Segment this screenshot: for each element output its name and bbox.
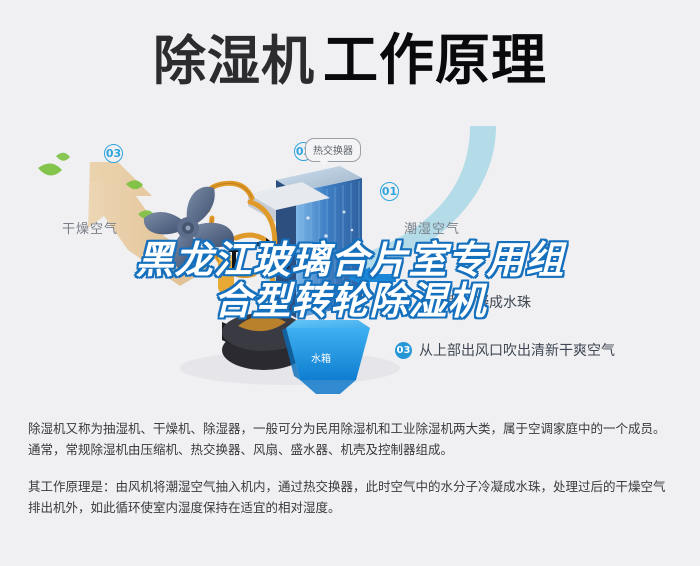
body-copy: 除湿机又称为抽湿机、干燥机、除湿器，一般可分为民用除湿机和工业除湿机两大类，属于… [28,418,676,518]
body-paragraph-2: 其工作原理是：由风机将潮湿空气抽入机内，通过热交换器，此时空气中的水分子冷凝成水… [28,476,676,518]
step-number-03: 03 [395,342,412,359]
label-water-tank: 水箱 [311,350,331,365]
badge-03-dry-air: 03 [104,144,123,163]
step-number-02: 02 [395,294,412,311]
step-item-03: 03 从上部出风口吹出清新干爽空气 [395,340,615,360]
label-dry-air: 干燥空气 [62,218,118,237]
bubble-tail [320,161,328,168]
step-item-02: 02 蒸发器冷凝成水珠 [395,292,531,312]
badge-01-humid-air: 01 [380,182,399,201]
body-paragraph-1: 除湿机又称为抽湿机、干燥机、除湿器，一般可分为民用除湿机和工业除湿机两大类，属于… [28,418,676,460]
page-title: 除湿机 工作原理 [153,33,547,88]
title-part-dehumidifier: 除湿机 [153,35,315,88]
page-header: 除湿机 工作原理 [0,0,700,120]
step-text-03: 从上部出风口吹出清新干爽空气 [419,340,615,360]
callout-heat-exchanger: 热交换器 [305,138,361,162]
label-humid-air: 潮湿空气 [404,218,460,237]
infographic-page: 除湿机 工作原理 [0,0,700,566]
title-part-working-principle: 工作原理 [323,33,547,88]
step-text-02: 蒸发器冷凝成水珠 [419,292,531,312]
label-heat-exchanger: 热交换器 [313,146,353,157]
